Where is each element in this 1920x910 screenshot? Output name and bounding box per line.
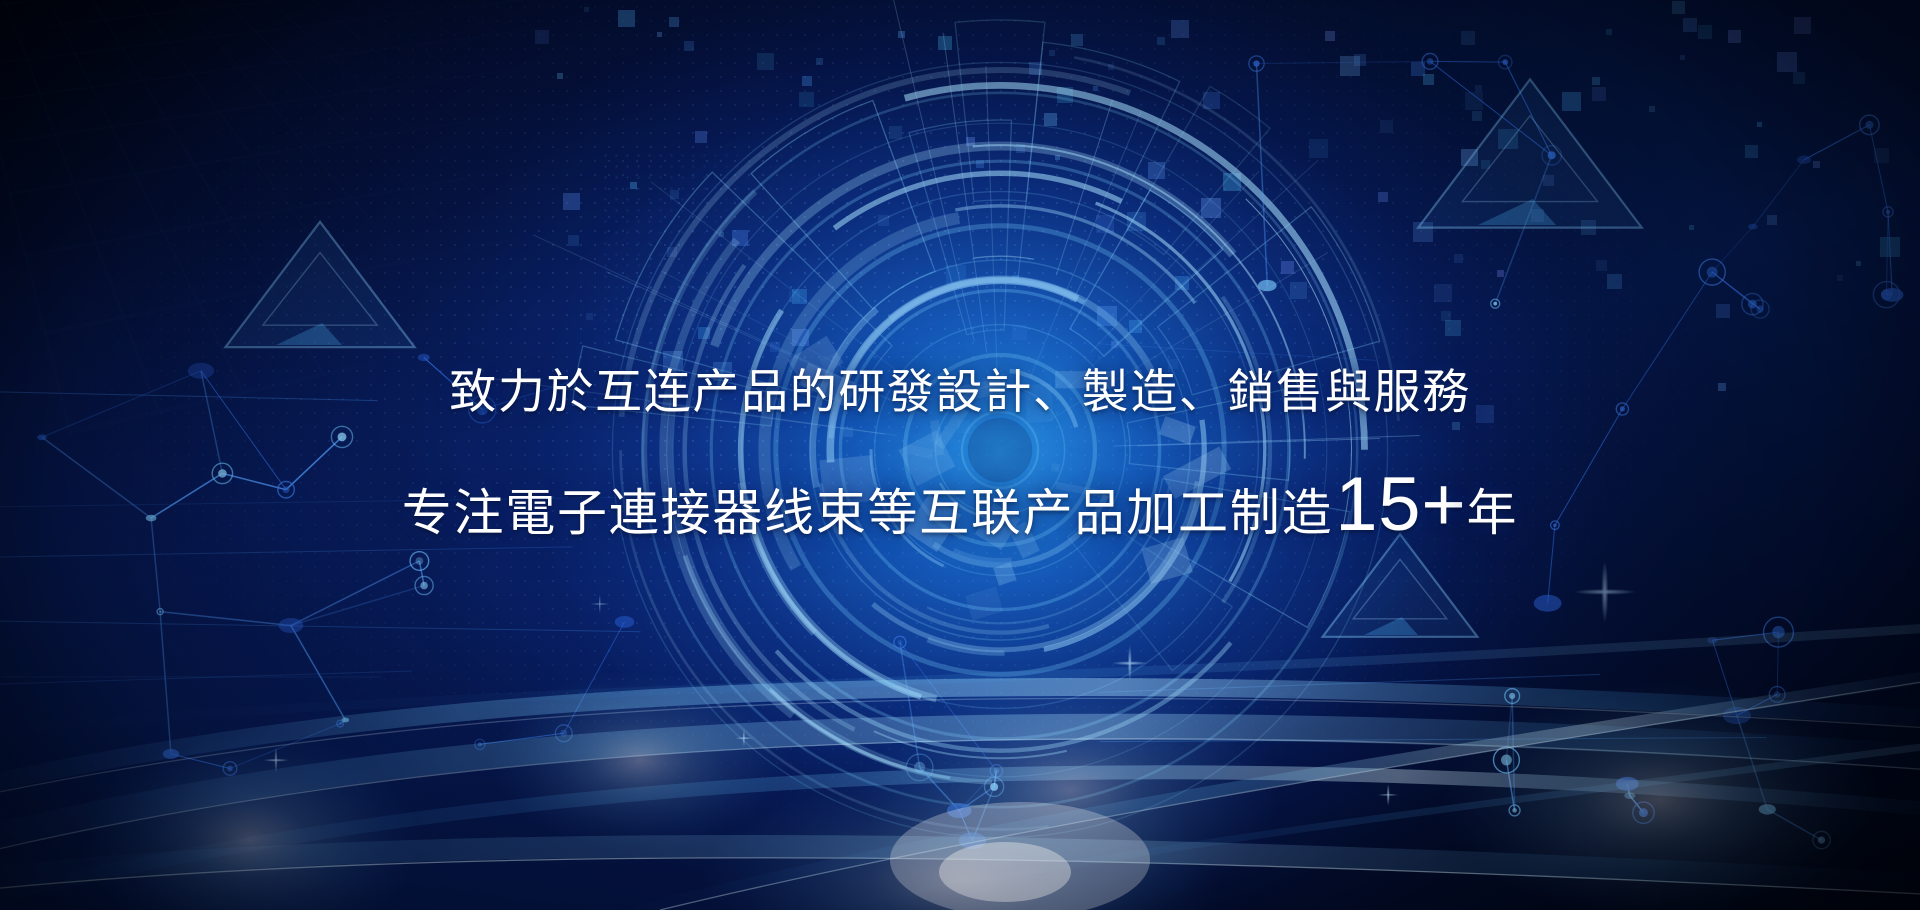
headline-line-2-prefix: 专注電子連接器线束等互联产品加工制造 <box>402 488 1334 538</box>
tech-banner: 致力於互连产品的研發設計、製造、銷售與服務 专注電子連接器线束等互联产品加工制造… <box>0 0 1920 910</box>
headline-block: 致力於互连产品的研發設計、製造、銷售與服務 专注電子連接器线束等互联产品加工制造… <box>0 0 1920 910</box>
headline-years-number: 15+ <box>1335 467 1466 543</box>
headline-line-2: 专注電子連接器线束等互联产品加工制造15+年 <box>402 467 1518 543</box>
headline-line-1: 致力於互连产品的研發設計、製造、銷售與服務 <box>449 368 1471 415</box>
headline-years-unit: 年 <box>1466 488 1518 538</box>
